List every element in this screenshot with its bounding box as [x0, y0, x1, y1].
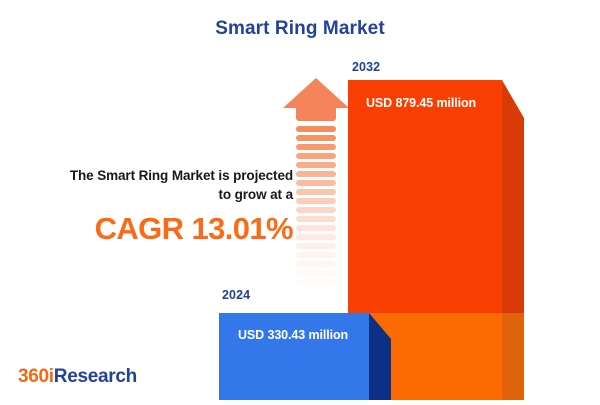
arrow-segment-12 — [296, 234, 336, 240]
arrow-segment-8 — [296, 198, 336, 204]
logo-360i: 360i — [18, 366, 54, 387]
bar-side-2032-shape — [502, 80, 524, 400]
arrow-segment-18 — [296, 288, 336, 294]
bar-value-2024: USD 330.43 million — [238, 328, 348, 342]
growth-arrow-icon — [283, 78, 349, 293]
bar-year-2032: 2032 — [352, 60, 380, 74]
bar-value-2032: USD 879.45 million — [366, 96, 476, 110]
arrow-neck-icon — [296, 107, 336, 121]
arrow-segment-17 — [296, 279, 336, 285]
arrow-segment-10 — [296, 216, 336, 222]
arrow-head-icon — [283, 78, 349, 108]
arrow-segment-16 — [296, 270, 336, 276]
bar-year-2024: 2024 — [222, 288, 250, 302]
arrow-segment-14 — [296, 252, 336, 258]
bar-2024-face — [219, 313, 369, 400]
caption-line-2: to grow at a — [18, 185, 293, 204]
bar-2024[interactable] — [219, 313, 369, 400]
bar-side-2024 — [369, 313, 391, 400]
caption-line-1: The Smart Ring Market is projected — [18, 166, 293, 185]
arrow-segment-15 — [296, 261, 336, 267]
arrow-segment-6 — [296, 180, 336, 186]
arrow-segment-13 — [296, 243, 336, 249]
arrow-segment-9 — [296, 207, 336, 213]
bar-side-2032 — [502, 80, 524, 400]
logo-research: Research — [54, 366, 137, 387]
arrow-segments — [296, 126, 336, 297]
bar-side-2024-shape — [369, 313, 391, 400]
arrow-segment-7 — [296, 189, 336, 195]
arrow-segment-3 — [296, 153, 336, 159]
arrow-segment-4 — [296, 162, 336, 168]
arrow-segment-5 — [296, 171, 336, 177]
logo[interactable]: 360iResearch — [18, 366, 137, 388]
arrow-segment-2 — [296, 144, 336, 150]
arrow-segment-11 — [296, 225, 336, 231]
page-title: Smart Ring Market — [0, 18, 600, 40]
arrow-segment-1 — [296, 135, 336, 141]
infographic-canvas: Smart Ring Market The Smart Ring Market … — [0, 0, 600, 400]
arrow-segment-0 — [296, 126, 336, 132]
caption-block: The Smart Ring Market is projected to gr… — [18, 166, 293, 247]
cagr-value: CAGR 13.01% — [18, 211, 293, 247]
